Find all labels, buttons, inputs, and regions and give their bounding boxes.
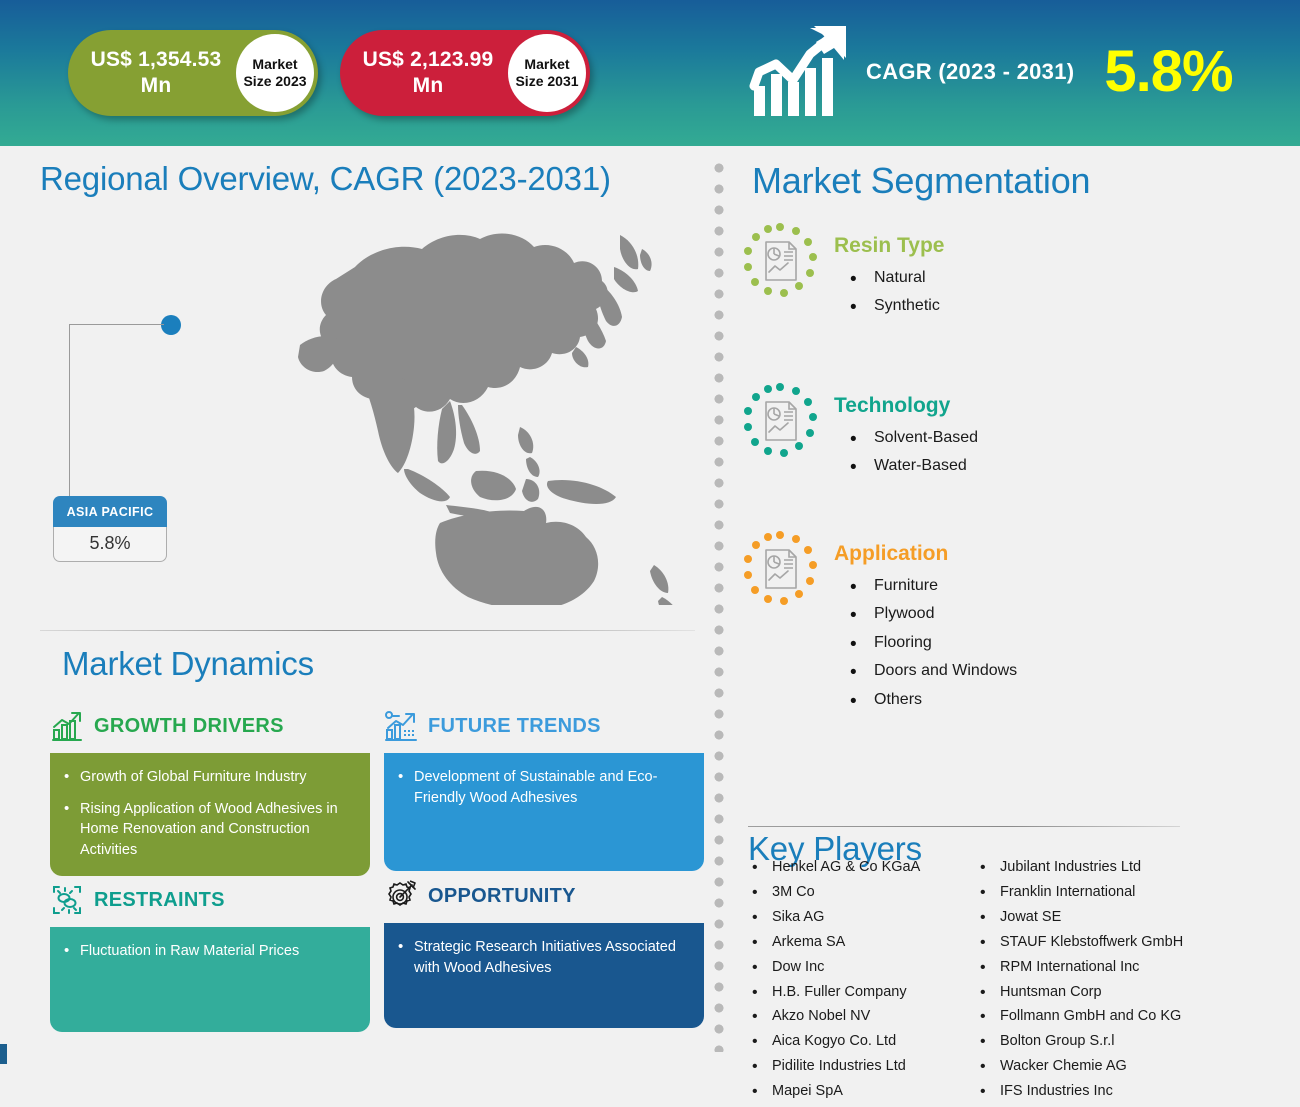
- restraints-label: RESTRAINTS: [94, 889, 225, 912]
- restraints-box: Fluctuation in Raw Material Prices: [50, 927, 370, 1032]
- market-segmentation-title: Market Segmentation: [752, 160, 1090, 202]
- list-item: Plywood: [848, 600, 1017, 628]
- growth-drivers-label: GROWTH DRIVERS: [94, 715, 284, 738]
- segment-application-list: Furniture Plywood Flooring Doors and Win…: [834, 572, 1017, 714]
- market-size-2031-bubble: MarketSize 2031: [508, 34, 586, 112]
- list-item: Aica Kogyo Co. Ltd: [748, 1032, 976, 1052]
- list-item: Others: [848, 686, 1017, 714]
- document-chart-dotted-circle-icon: [742, 222, 818, 298]
- list-item: Arkema SA: [748, 933, 976, 953]
- restraints-card: RESTRAINTS Fluctuation in Raw Material P…: [50, 880, 370, 1032]
- list-item: IFS Industries Inc: [976, 1082, 1183, 1102]
- segment-resin-type-list: Natural Synthetic: [834, 264, 944, 321]
- list-item: Franklin International: [976, 883, 1183, 903]
- list-item: Bolton Group S.r.l: [976, 1032, 1183, 1052]
- asia-pacific-map: [150, 205, 710, 605]
- opportunity-list: Strategic Research Initiatives Associate…: [398, 937, 688, 978]
- segment-application-name: Application: [834, 542, 1017, 566]
- vertical-dotted-divider: [713, 162, 725, 1052]
- segment-resin-type-name: Resin Type: [834, 234, 944, 258]
- segment-technology-name: Technology: [834, 394, 978, 418]
- list-item: Strategic Research Initiatives Associate…: [398, 937, 688, 978]
- market-size-2031-value: US$ 2,123.99Mn: [340, 47, 508, 98]
- opportunity-card: OPPORTUNITY Strategic Research Initiativ…: [384, 876, 704, 1028]
- future-trends-box: Development of Sustainable and Eco-Frien…: [384, 753, 704, 871]
- key-players-column-left: Henkel AG & Co KGaA 3M Co Sika AG Arkema…: [748, 858, 976, 1107]
- key-players-divider: [748, 826, 1180, 827]
- list-item: Furniture: [848, 572, 1017, 600]
- growth-drivers-card: GROWTH DRIVERS Growth of Global Furnitur…: [50, 706, 370, 876]
- list-item: Fluctuation in Raw Material Prices: [64, 941, 354, 962]
- region-badge-name: ASIA PACIFIC: [53, 496, 167, 527]
- list-item: Growth of Global Furniture Industry: [64, 767, 354, 788]
- cagr-value: 5.8%: [1104, 43, 1232, 101]
- future-trends-card: FUTURE TRENDS Development of Sustainable…: [384, 706, 704, 871]
- list-item: Huntsman Corp: [976, 983, 1183, 1003]
- market-dynamics-title: Market Dynamics: [62, 645, 314, 683]
- future-trends-list: Development of Sustainable and Eco-Frien…: [398, 767, 688, 808]
- list-item: RPM International Inc: [976, 958, 1183, 978]
- segment-technology-list: Solvent-Based Water-Based: [834, 424, 978, 481]
- list-item: Akzo Nobel NV: [748, 1007, 976, 1027]
- list-item: Pidilite Industries Ltd: [748, 1057, 976, 1077]
- list-item: Doors and Windows: [848, 657, 1017, 685]
- key-players-column-right: Jubilant Industries Ltd Franklin Interna…: [976, 858, 1183, 1107]
- cagr-label: CAGR (2023 - 2031): [866, 59, 1074, 85]
- list-item: Water-Based: [848, 452, 978, 480]
- region-badge: ASIA PACIFIC 5.8%: [53, 496, 167, 562]
- list-item: Development of Sustainable and Eco-Frien…: [398, 767, 688, 808]
- gear-target-dart-icon: [384, 880, 418, 912]
- list-item: Jowat SE: [976, 908, 1183, 928]
- list-item: Synthetic: [848, 292, 944, 320]
- region-badge-cagr: 5.8%: [53, 527, 167, 562]
- bar-chart-up-icon: [50, 710, 84, 742]
- list-item: Wacker Chemie AG: [976, 1057, 1183, 1077]
- segment-application: Application Furniture Plywood Flooring D…: [742, 530, 1017, 714]
- list-item: Jubilant Industries Ltd: [976, 858, 1183, 878]
- market-size-2023-value: US$ 1,354.53Mn: [68, 47, 236, 98]
- dynamics-divider: [40, 630, 695, 631]
- market-size-2031-pill: US$ 2,123.99Mn MarketSize 2031: [340, 30, 590, 116]
- list-item: Solvent-Based: [848, 424, 978, 452]
- document-chart-dotted-circle-icon: [742, 382, 818, 458]
- restraints-list: Fluctuation in Raw Material Prices: [64, 941, 354, 962]
- opportunity-box: Strategic Research Initiatives Associate…: [384, 923, 704, 1028]
- trend-chart-arrow-icon: [384, 710, 418, 742]
- left-edge-marker: [0, 1044, 7, 1064]
- segment-technology: Technology Solvent-Based Water-Based: [742, 382, 978, 481]
- list-item: Dow Inc: [748, 958, 976, 978]
- key-players-columns: Henkel AG & Co KGaA 3M Co Sika AG Arkema…: [748, 858, 1183, 1107]
- cagr-group: CAGR (2023 - 2031) 5.8%: [748, 24, 1233, 120]
- list-item: Natural: [848, 264, 944, 292]
- market-size-2023-pill: US$ 1,354.53Mn MarketSize 2023: [68, 30, 318, 116]
- growth-bar-chart-arrow-icon: [748, 24, 852, 120]
- list-item: STAUF Klebstoffwerk GmbH: [976, 933, 1183, 953]
- list-item: Sika AG: [748, 908, 976, 928]
- list-item: H.B. Fuller Company: [748, 983, 976, 1003]
- list-item: Flooring: [848, 629, 1017, 657]
- growth-drivers-list: Growth of Global Furniture Industry Risi…: [64, 767, 354, 860]
- broken-chain-link-icon: [50, 884, 84, 916]
- list-item: 3M Co: [748, 883, 976, 903]
- future-trends-label: FUTURE TRENDS: [428, 715, 601, 738]
- document-chart-dotted-circle-icon: [742, 530, 818, 606]
- asia-pacific-map-marker: [161, 315, 181, 335]
- segment-resin-type: Resin Type Natural Synthetic: [742, 222, 944, 321]
- market-size-2023-bubble: MarketSize 2023: [236, 34, 314, 112]
- opportunity-label: OPPORTUNITY: [428, 885, 576, 908]
- list-item: Henkel AG & Co KGaA: [748, 858, 976, 878]
- header-banner: US$ 1,354.53Mn MarketSize 2023 US$ 2,123…: [0, 0, 1300, 146]
- list-item: Follmann GmbH and Co KG: [976, 1007, 1183, 1027]
- growth-drivers-box: Growth of Global Furniture Industry Risi…: [50, 753, 370, 876]
- map-leader-line: [69, 324, 164, 496]
- regional-overview-title: Regional Overview, CAGR (2023-2031): [40, 160, 611, 198]
- list-item: Rising Application of Wood Adhesives in …: [64, 799, 354, 861]
- list-item: Mapei SpA: [748, 1082, 976, 1102]
